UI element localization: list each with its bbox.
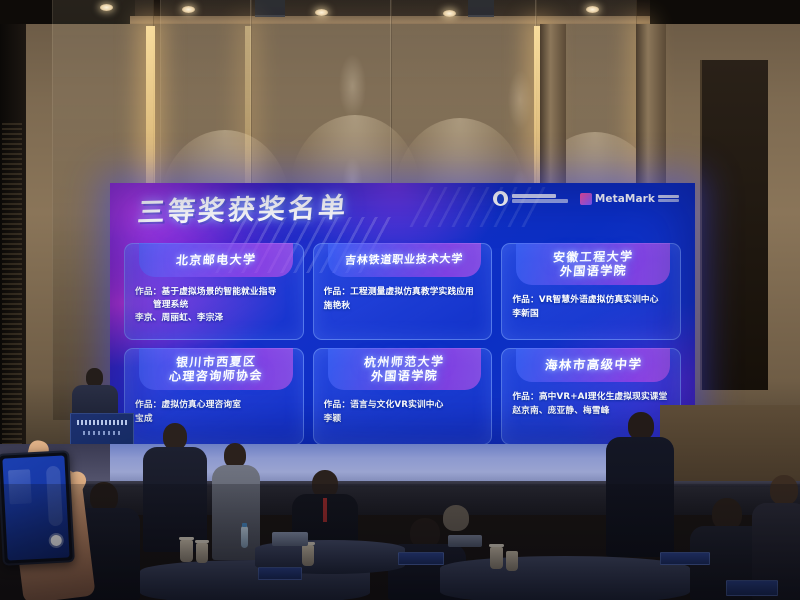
screen-vignette bbox=[110, 183, 695, 445]
led-presentation-screen: 三等奖获奖名单 MetaMark 北京邮电大 bbox=[110, 183, 695, 445]
cup-lid bbox=[195, 540, 209, 543]
podium-slogan-text bbox=[83, 431, 121, 435]
phone-screen-content bbox=[8, 469, 32, 504]
person-torso bbox=[606, 437, 674, 557]
cup-lid bbox=[489, 544, 504, 547]
laptop bbox=[272, 532, 308, 546]
wall-grille bbox=[2, 120, 22, 450]
person-torso bbox=[212, 465, 260, 560]
round-table bbox=[440, 556, 690, 600]
record-button[interactable] bbox=[50, 535, 62, 547]
person-head bbox=[770, 475, 798, 505]
side-door bbox=[700, 60, 768, 390]
person-head bbox=[628, 412, 654, 440]
paper-cup bbox=[506, 551, 518, 571]
laptop bbox=[448, 535, 482, 547]
table-nameplate bbox=[258, 567, 302, 580]
phone-camera-controls[interactable] bbox=[46, 466, 63, 527]
person-head bbox=[163, 423, 187, 450]
paper-cup bbox=[196, 543, 208, 563]
conference-photo-scene: 三等奖获奖名单 MetaMark 北京邮电大 bbox=[0, 0, 800, 600]
paper-cup bbox=[302, 545, 314, 566]
bottle-cap bbox=[242, 523, 247, 527]
person-head bbox=[443, 505, 469, 531]
person-torso bbox=[143, 447, 207, 552]
table-nameplate bbox=[660, 552, 710, 565]
cup-lid bbox=[179, 537, 194, 540]
smartphone-recording[interactable] bbox=[0, 450, 75, 566]
table-nameplate bbox=[726, 580, 778, 596]
paper-cup bbox=[490, 547, 503, 569]
lanyard bbox=[323, 498, 327, 522]
phone-screen[interactable] bbox=[2, 455, 69, 560]
water-bottle bbox=[241, 526, 248, 548]
podium-conference-title-text bbox=[77, 420, 127, 425]
paper-cup bbox=[180, 540, 193, 562]
table-nameplate bbox=[398, 552, 444, 565]
